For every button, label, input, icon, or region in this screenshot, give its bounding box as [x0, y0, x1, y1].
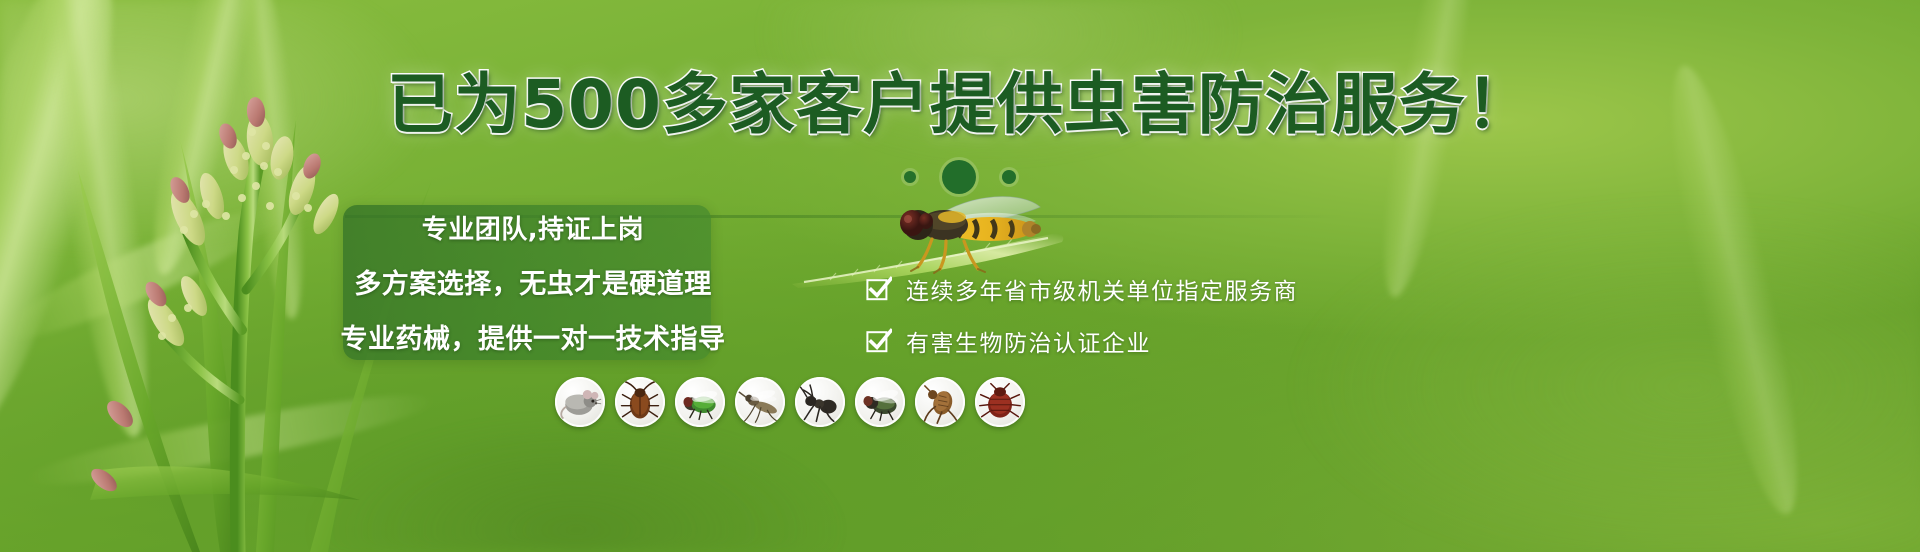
certification-list: 连续多年省市级机关单位指定服务商 有害生物防治认证企业	[866, 272, 1298, 358]
list-item-label: 连续多年省市级机关单位指定服务商	[906, 272, 1298, 306]
decorative-dots	[0, 160, 1920, 194]
pest-icon-row	[555, 377, 1025, 427]
dot-medium-icon	[1002, 170, 1016, 184]
dot-large-icon	[942, 160, 976, 194]
cockroach-icon[interactable]	[615, 377, 665, 427]
selling-point-line-3: 专业药械，提供一对一技术指导	[341, 317, 726, 356]
selling-point-line-2: 多方案选择，无虫才是硬道理	[354, 262, 712, 301]
checkbox-checked-icon	[866, 328, 892, 354]
selling-points-text: 专业团队,持证上岗 多方案选择，无虫才是硬道理 专业药械，提供一对一技术指导	[343, 205, 723, 360]
list-item: 连续多年省市级机关单位指定服务商	[866, 272, 1298, 306]
blowfly-icon[interactable]	[675, 377, 725, 427]
mouse-icon[interactable]	[555, 377, 605, 427]
list-item: 有害生物防治认证企业	[866, 324, 1298, 358]
housefly-icon[interactable]	[855, 377, 905, 427]
bedbug-icon[interactable]	[975, 377, 1025, 427]
selling-point-line-1: 专业团队,持证上岗	[422, 209, 644, 246]
promo-banner: 已为500多家客户提供虫害防治服务！ 专业团队,持证上岗 多方案选择，无虫才是硬…	[0, 0, 1920, 552]
list-item-label: 有害生物防治认证企业	[906, 324, 1151, 358]
mosquito-icon[interactable]	[735, 377, 785, 427]
flea-icon[interactable]	[915, 377, 965, 427]
ant-icon[interactable]	[795, 377, 845, 427]
hoverfly-image	[840, 195, 1080, 275]
dot-small-icon	[904, 171, 916, 183]
checkbox-checked-icon	[866, 276, 892, 302]
